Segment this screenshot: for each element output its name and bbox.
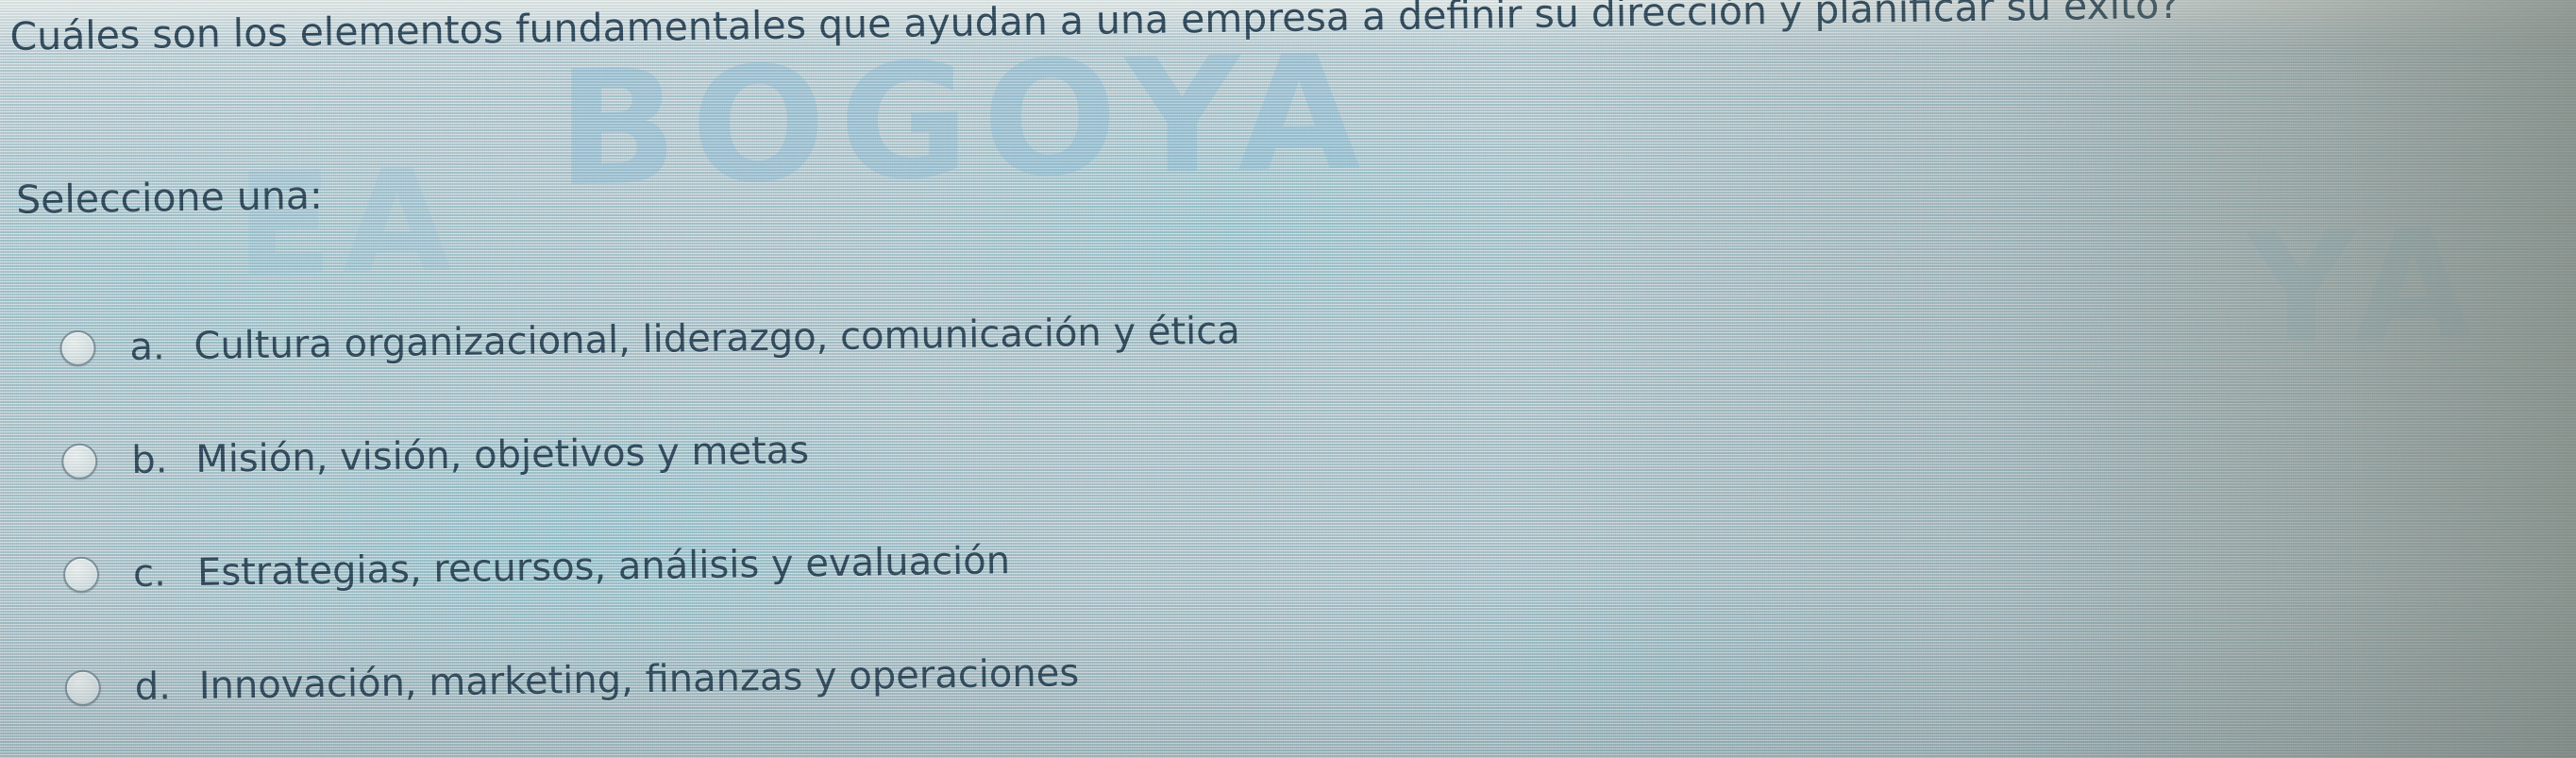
screen-photo: EA BOGOYA YA Cuáles son los elementos fu… bbox=[0, 0, 2576, 758]
photo-vignette bbox=[0, 0, 2576, 758]
